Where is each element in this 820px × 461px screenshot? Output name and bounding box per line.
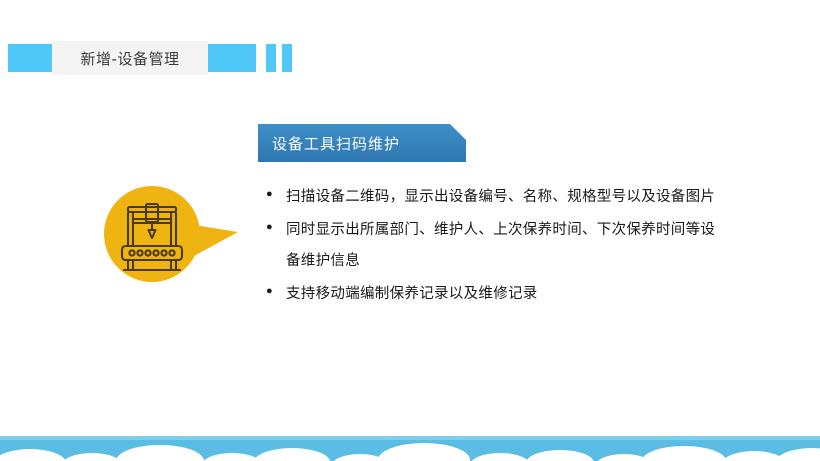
list-item: ● 支持移动端编制保养记录以及维修记录 — [266, 279, 716, 310]
feature-bullet-list: ● 扫描设备二维码，显示出设备编号、名称、规格型号以及设备图片 ● 同时显示出所… — [266, 182, 716, 312]
list-item-label: 同时显示出所属部门、维护人、上次保养时间、下次保养时间等设备维护信息 — [286, 215, 716, 277]
page-title: 新增-设备管理 — [81, 48, 180, 69]
cloud-strip — [0, 433, 820, 461]
cloud-decoration-icon — [0, 433, 820, 461]
bullet-marker-icon: ● — [266, 182, 286, 194]
header-accent-tick-first — [266, 44, 276, 72]
bullet-marker-icon: ● — [266, 215, 286, 227]
list-item-label: 支持移动端编制保养记录以及维修记录 — [286, 279, 716, 310]
slide-header: 新增-设备管理 — [0, 41, 310, 75]
header-accent-tick-second — [282, 44, 292, 72]
list-item-label: 扫描设备二维码，显示出设备编号、名称、规格型号以及设备图片 — [286, 182, 716, 213]
list-item: ● 扫描设备二维码，显示出设备编号、名称、规格型号以及设备图片 — [266, 182, 716, 213]
header-accent-bar-middle — [208, 44, 256, 72]
cnc-machine-icon — [104, 186, 244, 286]
slide-canvas: 新增-设备管理 设备工具扫码维护 — [0, 0, 820, 461]
bullet-marker-icon: ● — [266, 279, 286, 291]
section-banner: 设备工具扫码维护 — [258, 124, 466, 162]
header-accent-bar-left — [8, 44, 52, 72]
header-title-plate: 新增-设备管理 — [52, 41, 208, 75]
list-item: ● 同时显示出所属部门、维护人、上次保养时间、下次保养时间等设备维护信息 — [266, 215, 716, 277]
callout-badge — [104, 186, 200, 282]
section-banner-label: 设备工具扫码维护 — [258, 133, 400, 154]
